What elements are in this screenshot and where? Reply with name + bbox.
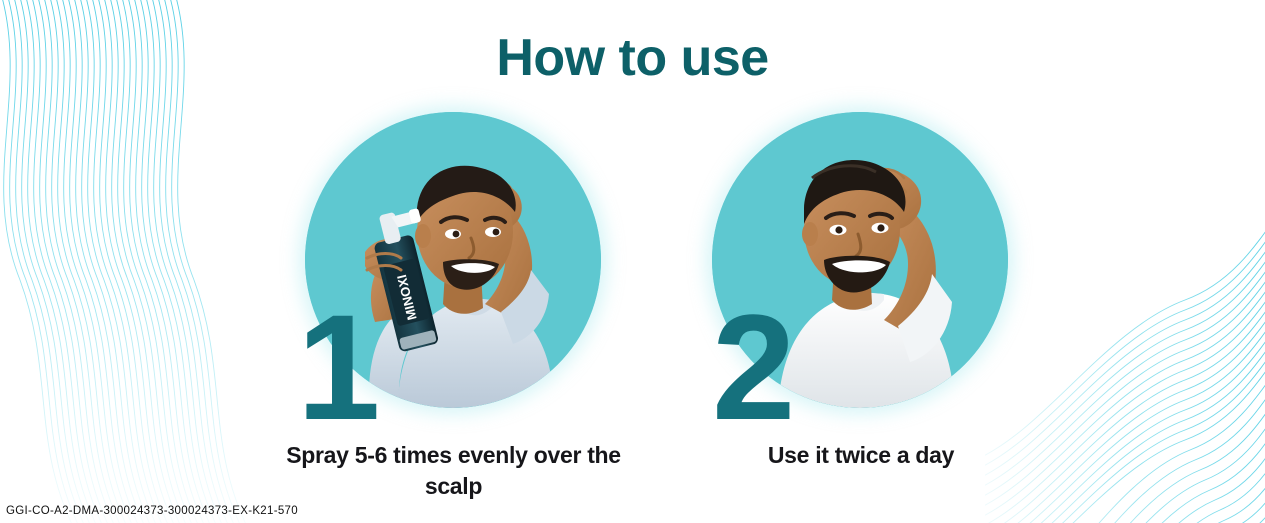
step-1: MINOXI 1	[305, 112, 601, 408]
page-title: How to use	[0, 30, 1265, 87]
step-2: 2	[712, 112, 1008, 408]
legal-code: GGI-CO-A2-DMA-300024373-300024373-EX-K21…	[6, 505, 298, 517]
how-to-use-banner: How to use	[0, 0, 1265, 523]
step-1-number: 1	[297, 292, 376, 442]
step-2-number: 2	[712, 292, 791, 442]
